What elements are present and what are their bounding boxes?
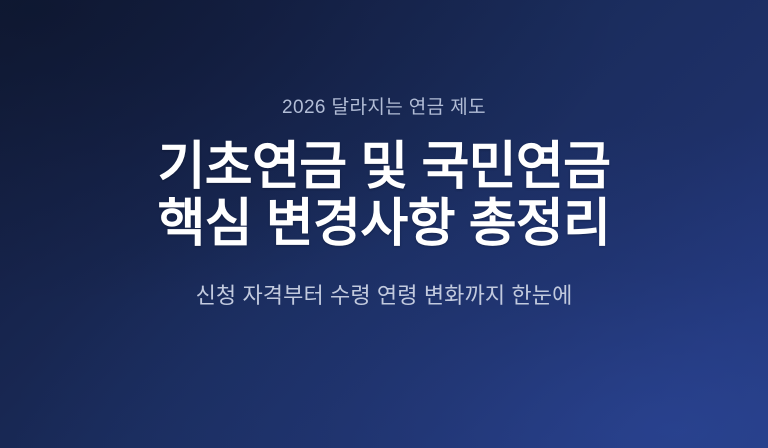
- pension-hero-card: 2026 달라지는 연금 제도 기초연금 및 국민연금 핵심 변경사항 총정리 …: [0, 0, 768, 448]
- hero-content-block: 2026 달라지는 연금 제도 기초연금 및 국민연금 핵심 변경사항 총정리 …: [0, 0, 768, 448]
- hero-subtitle: 신청 자격부터 수령 연령 변화까지 한눈에: [196, 285, 573, 307]
- headline-line-1: 기초연금 및 국민연금: [158, 139, 611, 196]
- page-title: 기초연금 및 국민연금 핵심 변경사항 총정리: [158, 139, 611, 253]
- headline-line-2: 핵심 변경사항 총정리: [158, 196, 611, 253]
- hero-eyebrow: 2026 달라지는 연금 제도: [282, 98, 486, 117]
